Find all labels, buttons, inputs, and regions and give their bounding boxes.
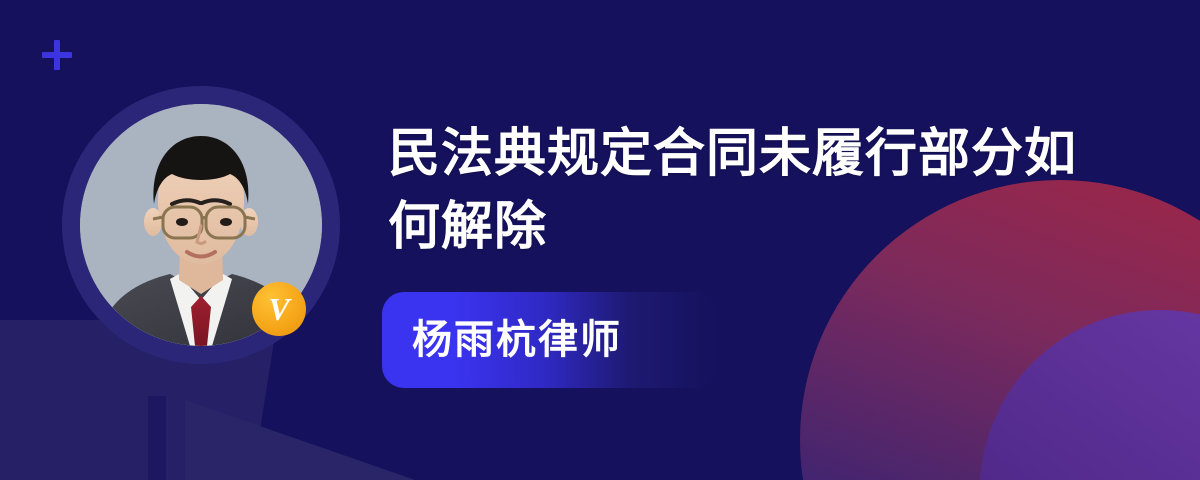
content-column: 民法典规定合同未履行部分如何解除 杨雨杭律师 bbox=[388, 118, 1088, 264]
background-circle-purple bbox=[980, 310, 1200, 480]
lawyer-article-card: V 民法典规定合同未履行部分如何解除 杨雨杭律师 bbox=[0, 0, 1200, 480]
author-badge[interactable]: 杨雨杭律师 bbox=[382, 292, 716, 388]
avatar[interactable]: V bbox=[62, 86, 340, 364]
plus-icon bbox=[42, 40, 72, 70]
plus-icon-vertical-bar bbox=[54, 40, 60, 70]
background-band bbox=[148, 396, 166, 480]
page-title: 民法典规定合同未履行部分如何解除 bbox=[388, 118, 1088, 264]
background-polygon-triangle bbox=[185, 400, 645, 480]
verified-badge-glyph: V bbox=[268, 293, 289, 325]
plus-icon-horizontal-bar bbox=[42, 52, 72, 58]
author-name-label: 杨雨杭律师 bbox=[382, 320, 622, 360]
verified-badge-icon: V bbox=[252, 282, 306, 336]
